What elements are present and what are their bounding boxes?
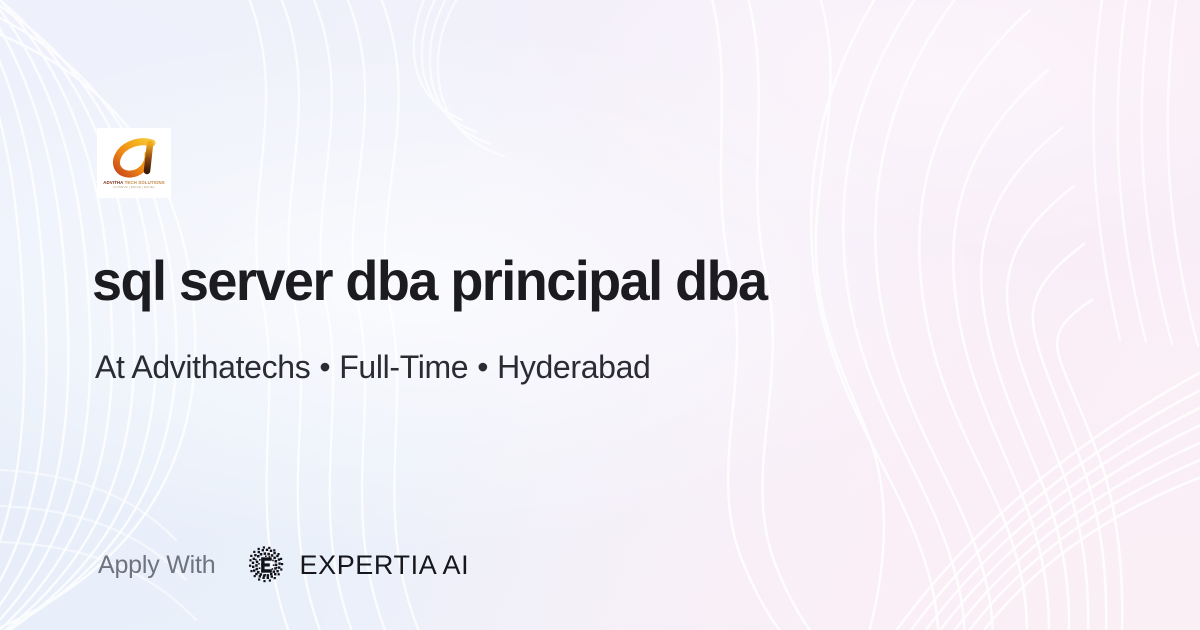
company-logo-tagline: ACHIEVE | DRIVE | EXCEL — [113, 186, 155, 189]
company-logo-card: ADVITHA TECH SOLUTIONS ACHIEVE | DRIVE |… — [97, 128, 171, 198]
advitha-swoosh-a-icon — [109, 137, 159, 179]
job-meta-employment-type: Full-Time — [339, 349, 468, 385]
job-meta-location: Hyderabad — [497, 349, 650, 385]
expertia-dotted-circle-e-icon — [243, 542, 289, 588]
apply-with-footer: Apply With — [98, 540, 469, 590]
job-meta-separator: • — [468, 346, 497, 388]
job-meta-separator: • — [310, 346, 339, 388]
expertia-brand-lockup[interactable]: EXPERTIA AI — [243, 542, 469, 588]
job-title: sql server dba principal dba — [92, 248, 767, 314]
job-meta-company: Advithatechs — [131, 349, 310, 385]
job-meta-line: At Advithatechs•Full-Time•Hyderabad — [95, 346, 650, 388]
apply-with-label: Apply With — [98, 551, 215, 580]
background-sheen — [0, 0, 1200, 630]
job-share-card: ADVITHA TECH SOLUTIONS ACHIEVE | DRIVE |… — [0, 0, 1200, 630]
job-meta-prefix: At — [95, 349, 125, 385]
expertia-wordmark: EXPERTIA AI — [299, 550, 469, 581]
company-logo-wordmark: ADVITHA TECH SOLUTIONS — [103, 180, 165, 185]
